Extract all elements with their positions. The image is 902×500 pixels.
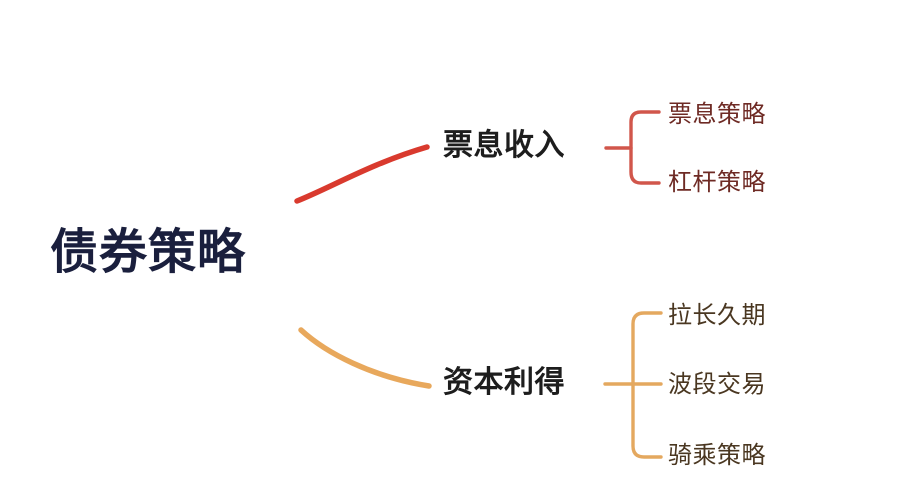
connector-bracket-coupon-income <box>631 112 659 183</box>
branch-node-capital-gains[interactable]: 资本利得 <box>443 368 565 398</box>
connector-bracket-capital-gains <box>633 313 661 457</box>
leaf-node-leverage-strategy[interactable]: 杠杆策略 <box>668 170 766 194</box>
branch-node-coupon-income[interactable]: 票息收入 <box>443 131 565 161</box>
leaf-node-extend-duration[interactable]: 拉长久期 <box>668 303 766 327</box>
mindmap-canvas: 债券策略 票息收入 资本利得 票息策略 杠杆策略 拉长久期 波段交易 骑乘策略 <box>0 0 902 500</box>
root-node-label[interactable]: 债券策略 <box>50 228 246 276</box>
leaf-node-riding-strategy[interactable]: 骑乘策略 <box>668 443 766 467</box>
connector-curve-coupon-income <box>297 147 427 201</box>
connector-curve-capital-gains <box>301 330 429 386</box>
leaf-node-coupon-strategy[interactable]: 票息策略 <box>668 102 766 126</box>
leaf-node-band-trading[interactable]: 波段交易 <box>668 372 766 396</box>
